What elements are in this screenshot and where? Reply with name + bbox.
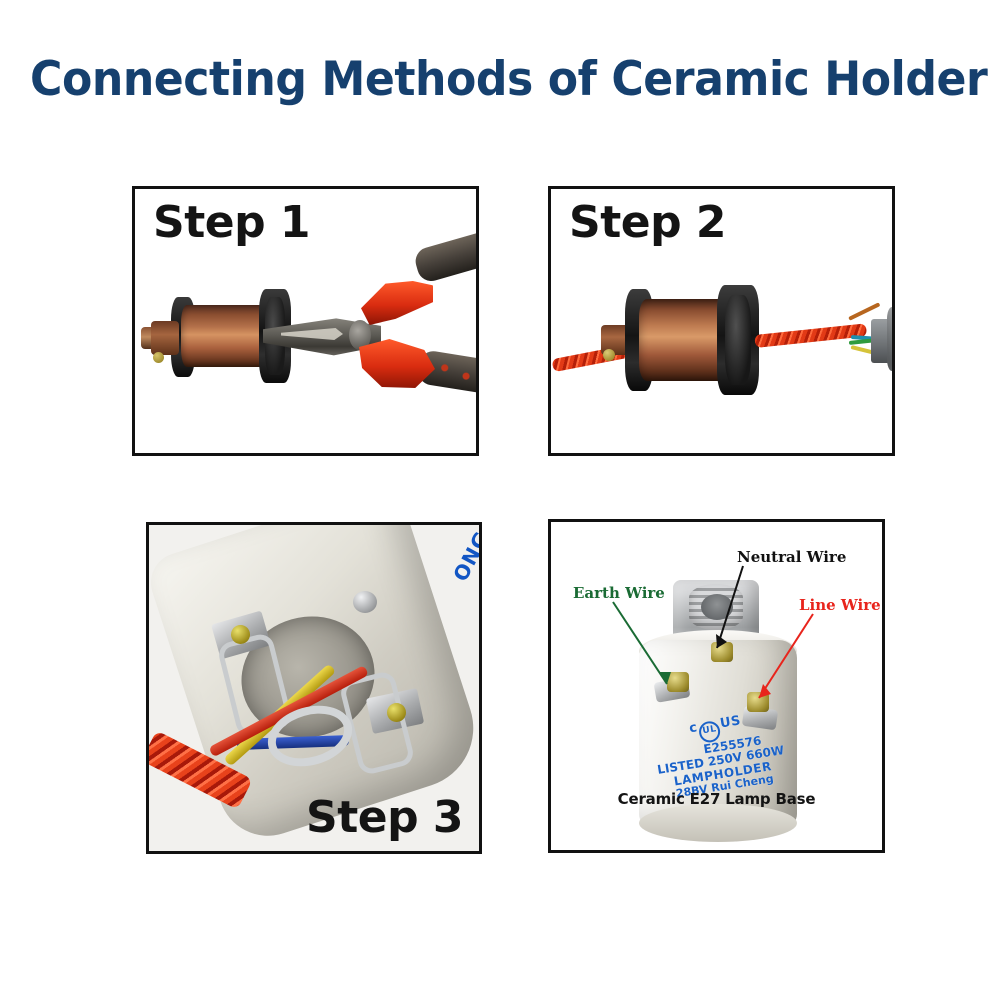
silver-screw-icon bbox=[353, 591, 377, 613]
panel-step-1: Step 1 bbox=[132, 186, 479, 456]
step-3-label: Step 3 bbox=[306, 792, 463, 843]
step-2-label: Step 2 bbox=[569, 197, 726, 248]
panel-step-2: Step 2 bbox=[548, 186, 895, 456]
holder-collar-right-icon bbox=[717, 285, 759, 395]
plier-grip-upper-icon bbox=[361, 281, 433, 325]
lamp-base-photo: cULUS E255576 LISTED 250V 660W LAMPHOLDE… bbox=[551, 522, 882, 850]
step-1-label: Step 1 bbox=[153, 197, 310, 248]
brass-screw-b-icon bbox=[387, 703, 406, 722]
holder-neck-icon bbox=[151, 321, 179, 355]
diagram-caption: Ceramic E27 Lamp Base bbox=[551, 790, 882, 808]
holder-set-screw-icon bbox=[603, 349, 615, 361]
holder-set-screw-icon bbox=[153, 352, 164, 363]
neutral-wire-label: Neutral Wire bbox=[737, 548, 846, 566]
brass-screw-a-icon bbox=[231, 625, 250, 644]
grey-ceramic-socket-icon bbox=[887, 307, 892, 371]
plier-handle-upper-icon bbox=[412, 216, 476, 285]
line-wire-label: Line Wire bbox=[799, 596, 881, 614]
page-title: Connecting Methods of Ceramic Holder bbox=[30, 52, 970, 107]
panel-step-3: ONG Step 3 bbox=[146, 522, 482, 854]
earth-wire-label: Earth Wire bbox=[573, 584, 665, 602]
panel-wiring-diagram: cULUS E255576 LISTED 250V 660W LAMPHOLDE… bbox=[548, 519, 885, 853]
